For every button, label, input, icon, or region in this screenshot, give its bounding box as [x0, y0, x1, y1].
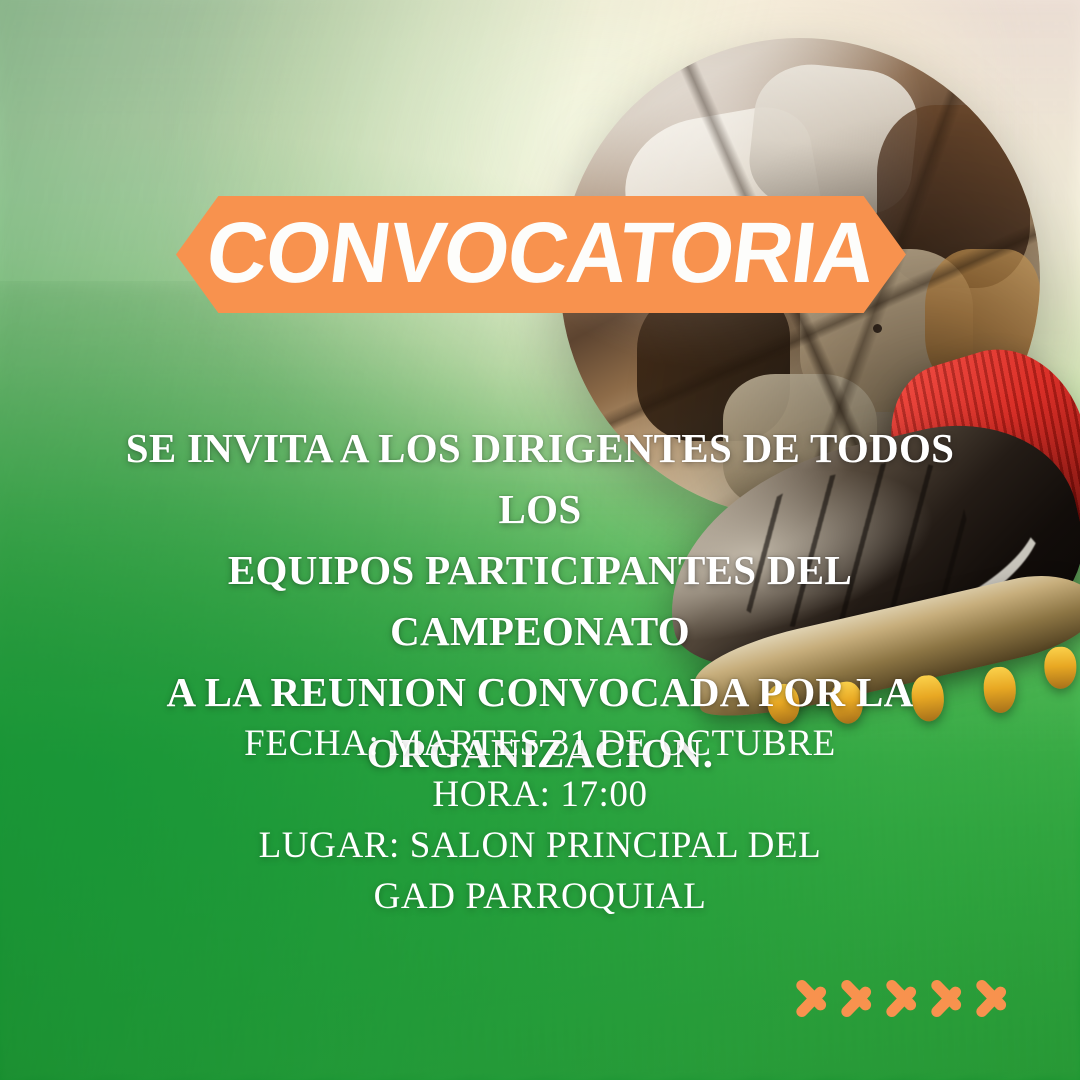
chevron-decoration — [798, 962, 1028, 1040]
body-line: SE INVITA A LOS DIRIGENTES DE TODOS LOS — [86, 418, 994, 540]
page-title: CONVOCATORIA — [202, 210, 879, 296]
detail-line-hora: HORA: 17:00 — [140, 769, 940, 820]
detail-line-lugar: LUGAR: SALON PRINCIPAL DEL — [140, 820, 940, 871]
chevron-right-icon — [843, 962, 869, 1034]
convocatoria-poster: CONVOCATORIA SE INVITA A LOS DIRIGENTES … — [0, 0, 1080, 1080]
chevron-right-icon — [798, 962, 824, 1034]
cleat-stud — [1044, 647, 1077, 690]
detail-line-fecha: FECHA: MARTES 31 DE OCTUBRE — [140, 718, 940, 769]
chevron-right-icon — [978, 962, 1004, 1034]
body-line: EQUIPOS PARTICIPANTES DEL CAMPEONATO — [86, 540, 994, 662]
headline-banner: CONVOCATORIA — [176, 196, 906, 313]
detail-line-lugar-cont: GAD PARROQUIAL — [140, 871, 940, 922]
body-line: A LA REUNION CONVOCADA POR LA — [86, 662, 994, 723]
chevron-right-icon — [933, 962, 959, 1034]
event-details-block: FECHA: MARTES 31 DE OCTUBRE HORA: 17:00 … — [140, 718, 940, 922]
chevron-right-icon — [888, 962, 914, 1034]
